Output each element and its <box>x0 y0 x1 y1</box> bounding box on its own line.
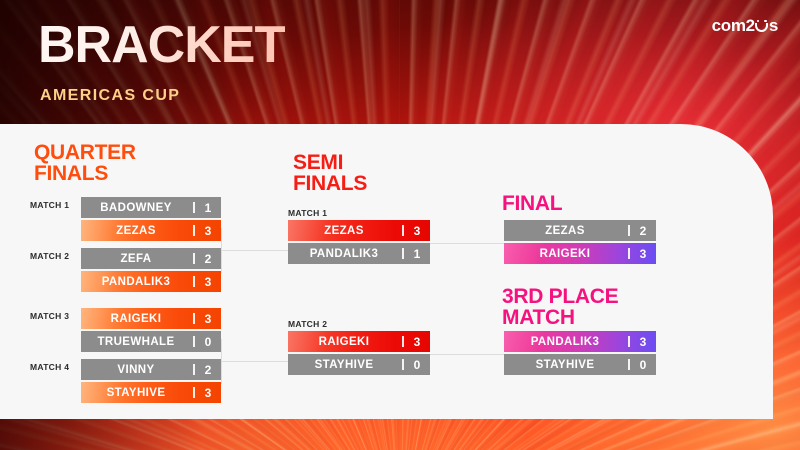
score-divider <box>193 253 195 264</box>
score-divider <box>402 248 404 259</box>
com2us-logo: com2 s <box>712 16 778 36</box>
score-divider <box>193 276 195 287</box>
score-divider <box>193 202 195 213</box>
bracket-row[interactable]: VINNY 2 <box>81 359 221 380</box>
team-name: ZEZAS <box>81 225 193 237</box>
score-divider <box>193 336 195 347</box>
score-divider <box>193 313 195 324</box>
team-name: ZEZAS <box>504 225 628 237</box>
bracket-row[interactable]: RAIGEKI 3 <box>504 243 656 264</box>
team-score: 0 <box>630 358 656 372</box>
team-score: 3 <box>404 335 430 349</box>
connector-sf1-input <box>221 250 288 251</box>
bracket-row[interactable]: TRUEWHALE 0 <box>81 331 221 352</box>
score-divider <box>193 225 195 236</box>
team-name: ZEZAS <box>288 225 402 237</box>
page-subtitle: AMERICAS CUP <box>40 87 180 105</box>
round-title-line-2: MATCH <box>502 307 618 328</box>
bracket-row[interactable]: RAIGEKI 3 <box>288 331 430 352</box>
round-title-semi-finals: SEMI FINALS <box>293 152 367 195</box>
team-name: RAIGEKI <box>504 248 628 260</box>
team-score: 0 <box>404 358 430 372</box>
team-name: VINNY <box>81 364 193 376</box>
score-divider <box>628 336 630 347</box>
score-divider <box>402 225 404 236</box>
header: BRACKET AMERICAS CUP com2 s <box>0 0 800 130</box>
match-label-qf-3: MATCH 3 <box>30 311 69 321</box>
round-title-line-1: QUARTER <box>34 142 136 163</box>
connector-sf2-to-third <box>430 354 504 355</box>
team-name: TRUEWHALE <box>81 336 193 348</box>
team-name: RAIGEKI <box>81 313 193 325</box>
match-label-qf-1: MATCH 1 <box>30 200 69 210</box>
team-name: ZEFA <box>81 253 193 265</box>
team-name: STAYHIVE <box>81 387 193 399</box>
match-label-sf-2: MATCH 2 <box>288 319 327 329</box>
match-label-qf-2: MATCH 2 <box>30 251 69 261</box>
round-title-line-1: SEMI <box>293 152 367 173</box>
team-name: PANDALIK3 <box>504 336 628 348</box>
team-score: 3 <box>195 312 221 326</box>
score-divider <box>402 359 404 370</box>
team-score: 3 <box>630 335 656 349</box>
logo-text-right: s <box>769 16 778 36</box>
team-score: 3 <box>630 247 656 261</box>
page-title: BRACKET <box>38 19 285 71</box>
team-name: RAIGEKI <box>288 336 402 348</box>
team-score: 1 <box>404 247 430 261</box>
team-score: 2 <box>630 224 656 238</box>
team-name: STAYHIVE <box>288 359 402 371</box>
match-label-sf-1: MATCH 1 <box>288 208 327 218</box>
team-score: 3 <box>195 275 221 289</box>
team-score: 3 <box>404 224 430 238</box>
connector-sf2-input <box>221 361 288 362</box>
team-score: 2 <box>195 363 221 377</box>
bracket-row[interactable]: STAYHIVE 0 <box>288 354 430 375</box>
bracket-row[interactable]: ZEFA 2 <box>81 248 221 269</box>
team-score: 3 <box>195 386 221 400</box>
round-title-line-2: FINALS <box>293 173 367 194</box>
score-divider <box>628 359 630 370</box>
round-title-line-1: 3RD PLACE <box>502 286 618 307</box>
bracket-row[interactable]: ZEZAS 3 <box>81 220 221 241</box>
round-title-final: FINAL <box>502 193 562 214</box>
team-name: PANDALIK3 <box>81 276 193 288</box>
bracket-row[interactable]: STAYHIVE 0 <box>504 354 656 375</box>
round-title-third-place: 3RD PLACE MATCH <box>502 286 618 329</box>
bracket-row[interactable]: STAYHIVE 3 <box>81 382 221 403</box>
score-divider <box>628 248 630 259</box>
bracket-row[interactable]: ZEZAS 2 <box>504 220 656 241</box>
bracket-row[interactable]: PANDALIK3 3 <box>81 271 221 292</box>
round-title-line-2: FINALS <box>34 163 136 184</box>
bracket-row[interactable]: PANDALIK3 3 <box>504 331 656 352</box>
team-name: STAYHIVE <box>504 359 628 371</box>
team-score: 3 <box>195 224 221 238</box>
smiley-icon <box>755 20 768 33</box>
score-divider <box>193 364 195 375</box>
connector-sf1-to-final <box>430 243 504 244</box>
team-name: PANDALIK3 <box>288 248 402 260</box>
round-title-quarter-finals: QUARTER FINALS <box>34 142 136 185</box>
bracket-row[interactable]: RAIGEKI 3 <box>81 308 221 329</box>
bracket-row[interactable]: PANDALIK3 1 <box>288 243 430 264</box>
team-name: BADOWNEY <box>81 202 193 214</box>
team-score: 1 <box>195 201 221 215</box>
logo-text-left: com2 <box>712 16 755 36</box>
bracket-row[interactable]: ZEZAS 3 <box>288 220 430 241</box>
team-score: 0 <box>195 335 221 349</box>
match-label-qf-4: MATCH 4 <box>30 362 69 372</box>
score-divider <box>628 225 630 236</box>
score-divider <box>402 336 404 347</box>
round-title-line-1: FINAL <box>502 193 562 214</box>
bracket-row[interactable]: BADOWNEY 1 <box>81 197 221 218</box>
score-divider <box>193 387 195 398</box>
team-score: 2 <box>195 252 221 266</box>
